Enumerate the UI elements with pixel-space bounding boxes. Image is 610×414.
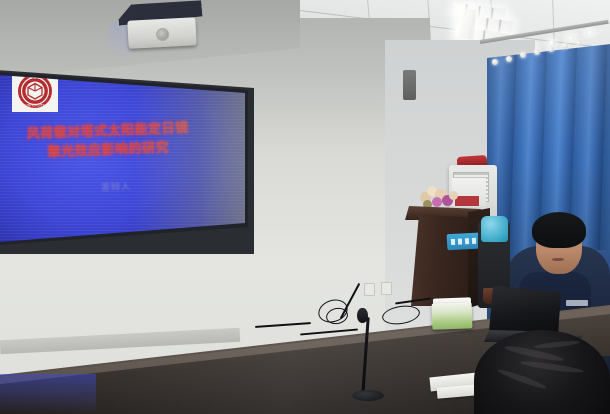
ceiling-downlight	[548, 40, 555, 45]
table-screen-reflection	[0, 374, 96, 414]
lectern	[411, 214, 473, 306]
seated-person-hair	[532, 212, 586, 248]
wall-speaker	[403, 70, 416, 100]
conference-room-photo: ★ ★ ★ UNIVERSITY 风荷载对塔式太阳能定日镜 聚光效应影响的研究 …	[0, 0, 610, 414]
curtain-grommet	[492, 59, 498, 65]
microphone-base	[352, 390, 384, 401]
flower-arrangement	[418, 184, 462, 210]
curtain-grommet	[562, 43, 568, 49]
projector-body	[127, 17, 196, 49]
vest-brand-label	[566, 300, 588, 306]
tissue-box	[432, 302, 473, 329]
ceiling-downlight	[567, 35, 574, 40]
ceiling-downlight	[586, 30, 593, 35]
wall-power-socket[interactable]	[381, 282, 392, 295]
projector-lens	[156, 28, 170, 42]
laptop-screen[interactable]	[489, 286, 561, 334]
curtain-grommet	[576, 40, 582, 46]
water-cooler-bottle	[481, 216, 508, 242]
curtain-grommet	[548, 46, 554, 52]
curtain-grommet	[534, 49, 540, 55]
curtain-grommet	[520, 52, 526, 58]
mouth	[552, 258, 564, 261]
curtain-grommet	[506, 56, 512, 62]
wall-power-socket[interactable]	[364, 283, 375, 296]
